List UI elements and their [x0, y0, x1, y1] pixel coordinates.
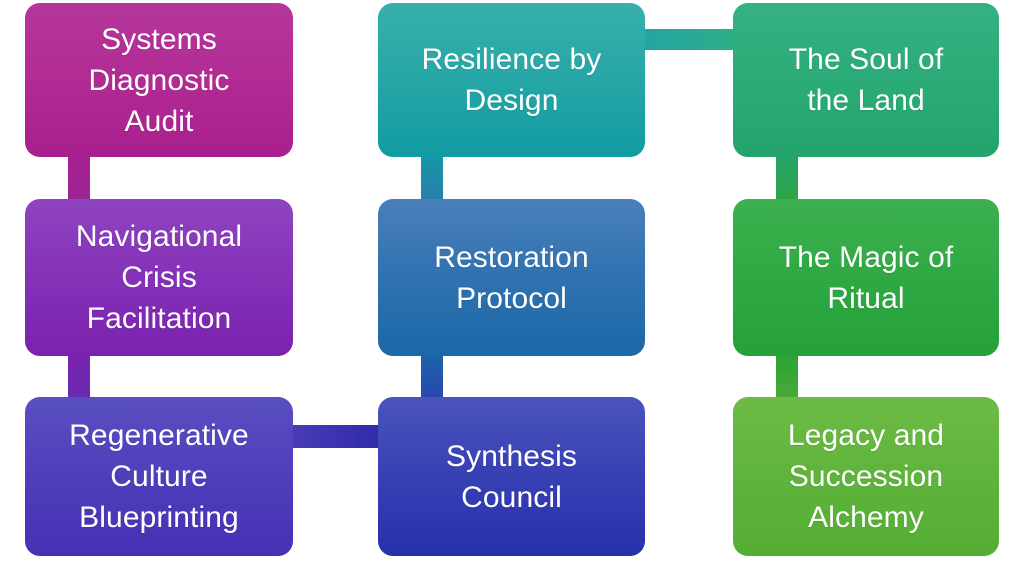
connector-resilience-design-to-restoration-protocol [421, 150, 443, 205]
node-legacy-and-succession-alchemy[interactable]: Legacy and Succession Alchemy [733, 397, 999, 556]
node-label: The Soul of the Land [789, 39, 944, 121]
node-resilience-by-design[interactable]: Resilience by Design [378, 3, 645, 157]
connector-regenerative-culture-to-synthesis-council [288, 425, 383, 448]
connector-restoration-protocol-to-synthesis-council [421, 349, 443, 404]
node-systems-diagnostic-audit[interactable]: Systems Diagnostic Audit [25, 3, 293, 157]
node-the-magic-of-ritual[interactable]: The Magic of Ritual [733, 199, 999, 356]
connector-resilience-design-to-soul-of-land [640, 29, 738, 50]
node-label: Systems Diagnostic Audit [88, 19, 229, 142]
node-synthesis-council[interactable]: Synthesis Council [378, 397, 645, 556]
connector-navigational-crisis-to-regenerative-culture [68, 349, 90, 404]
node-restoration-protocol[interactable]: Restoration Protocol [378, 199, 645, 356]
connector-magic-of-ritual-to-legacy-succession [776, 349, 798, 404]
connector-soul-of-land-to-magic-of-ritual [776, 150, 798, 205]
connector-systems-audit-to-navigational-crisis [68, 150, 90, 205]
node-label: Regenerative Culture Blueprinting [69, 415, 249, 538]
node-regenerative-culture-blueprinting[interactable]: Regenerative Culture Blueprinting [25, 397, 293, 556]
node-the-soul-of-the-land[interactable]: The Soul of the Land [733, 3, 999, 157]
node-label: Restoration Protocol [434, 237, 589, 319]
node-label: The Magic of Ritual [779, 237, 954, 319]
node-navigational-crisis-facilitation[interactable]: Navigational Crisis Facilitation [25, 199, 293, 356]
node-label: Synthesis Council [446, 436, 577, 518]
diagram-canvas: Systems Diagnostic Audit Navigational Cr… [0, 0, 1024, 564]
node-label: Legacy and Succession Alchemy [788, 415, 944, 538]
node-label: Navigational Crisis Facilitation [76, 216, 242, 339]
node-label: Resilience by Design [422, 39, 602, 121]
